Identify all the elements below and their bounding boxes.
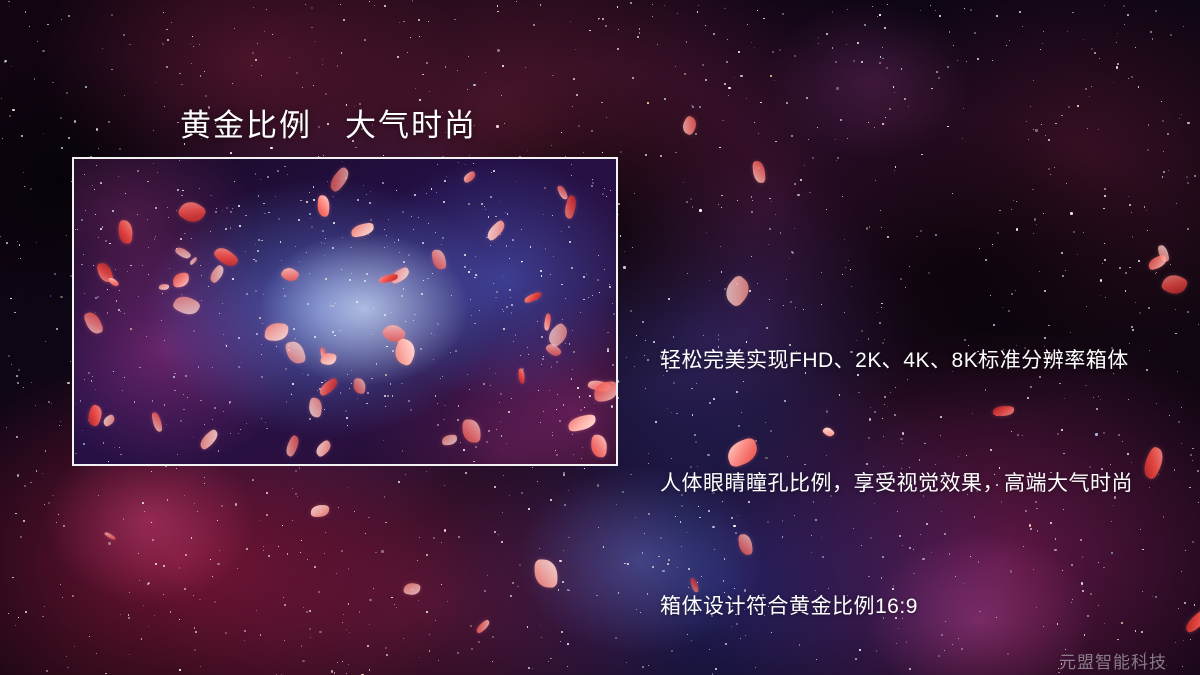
- page-title: 黄金比例 大气时尚: [180, 100, 477, 145]
- body-line-1: 轻松完美实现FHD、2K、4K、8K标准分辨率箱体: [660, 340, 1133, 381]
- body-text-block: 轻松完美实现FHD、2K、4K、8K标准分辨率箱体 人体眼睛瞳孔比例，享受视觉效…: [660, 258, 1133, 675]
- presentation-slide: 黄金比例 大气时尚 轻松完美实现FHD、2K、4K、8K标准分辨率箱体 人体眼睛…: [0, 0, 1200, 675]
- galaxy-image-content: [74, 159, 616, 464]
- watermark: 元盟智能科技: [1059, 648, 1167, 673]
- framed-galaxy-image: [72, 157, 618, 466]
- body-line-2: 人体眼睛瞳孔比例，享受视觉效果，高端大气时尚: [660, 463, 1133, 504]
- body-line-3: 箱体设计符合黄金比例16:9: [660, 586, 1133, 627]
